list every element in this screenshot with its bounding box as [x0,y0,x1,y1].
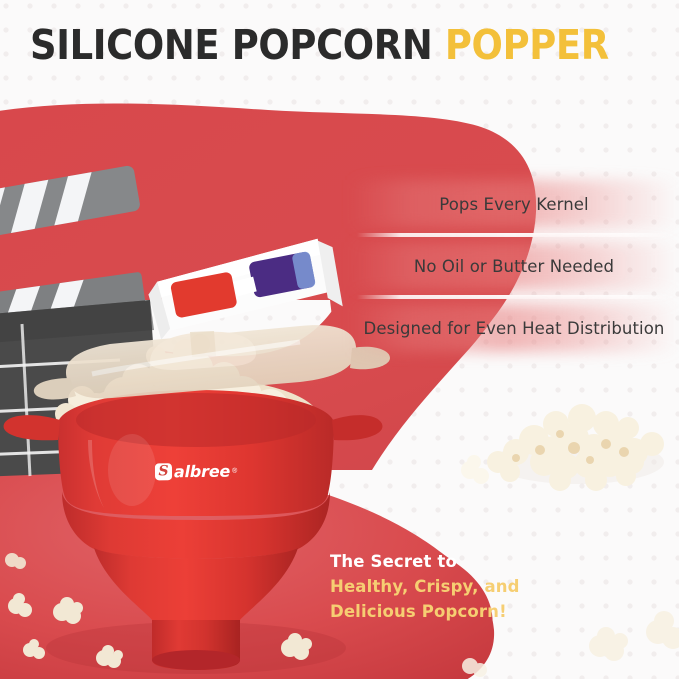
tagline-line-1: The Secret to [330,549,520,574]
popcorn-cluster [461,404,664,491]
salbree-brand-logo: S albree ® [155,462,237,482]
tagline-line-3: Delicious Popcorn! [330,599,520,624]
feature-divider-1 [349,228,679,242]
feature-item-3: Designed for Even Heat Distribution [349,304,679,352]
title-accent: POPPER [445,21,609,69]
tagline-block: The Secret to Healthy, Crispy, and Delic… [330,549,520,624]
title-main: SILICONE POPCORN [30,21,432,69]
brand-name: albree [174,462,230,481]
tagline-line-2: Healthy, Crispy, and [330,574,520,599]
feature-label: Pops Every Kernel [439,195,588,214]
feature-label: Designed for Even Heat Distribution [364,319,665,338]
feature-item-2: No Oil or Butter Needed [349,242,679,290]
feature-divider-2 [349,290,679,304]
feature-label: No Oil or Butter Needed [414,257,614,276]
brand-initial-badge: S [155,463,172,480]
feature-item-1: Pops Every Kernel [349,180,679,228]
registered-trademark-mark: ® [232,468,237,475]
product-marketing-image: SILICONE POPCORN POPPER Pops Every Kerne… [0,0,679,679]
page-title: SILICONE POPCORN POPPER [30,25,609,66]
feature-list: Pops Every Kernel No Oil or Butter Neede… [349,180,679,352]
